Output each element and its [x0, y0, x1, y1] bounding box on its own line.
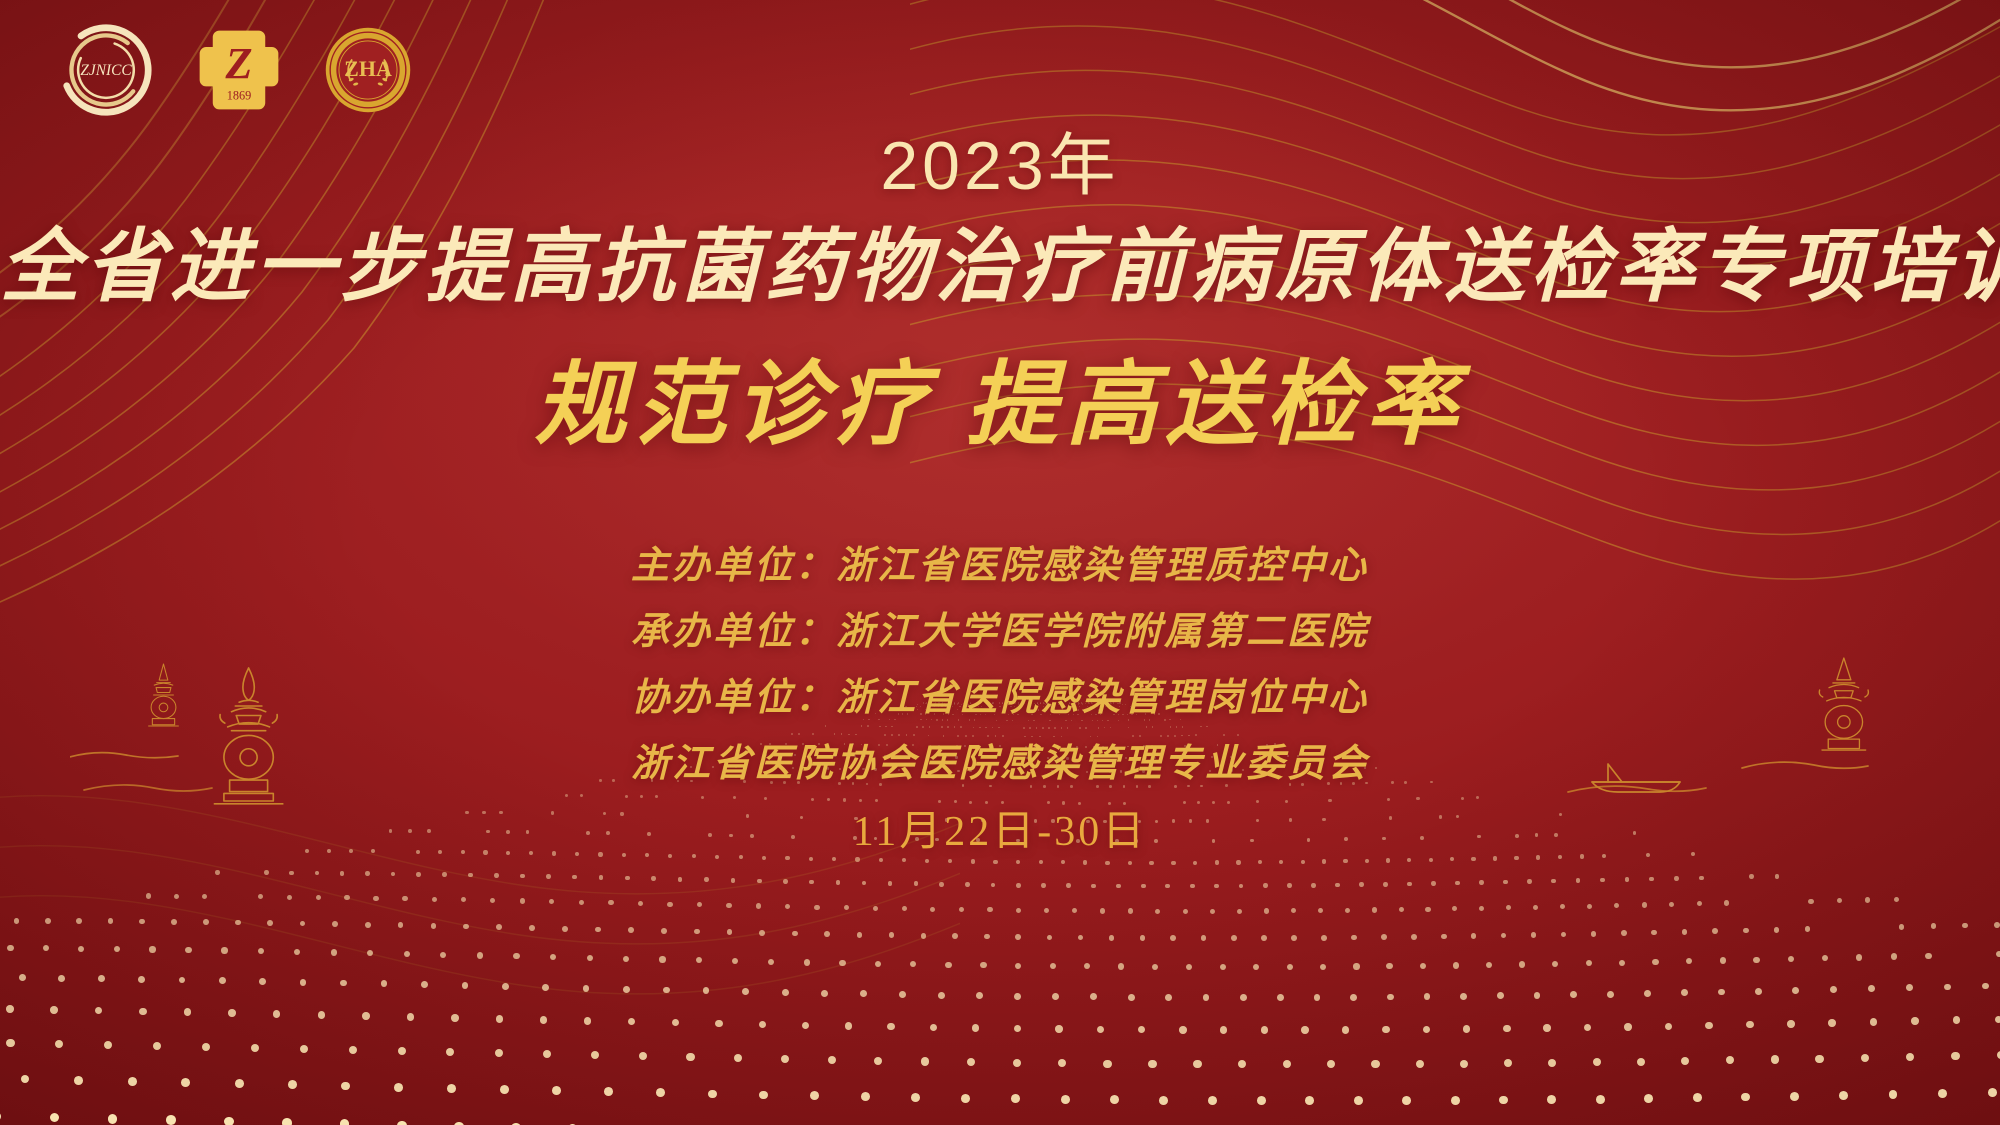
zju-1869-logo-icon: Z 1869 [198, 27, 280, 113]
page-title: 全省进一步提高抗菌药物治疗前病原体送检率专项培训 [0, 226, 2000, 311]
organizer-line: 协办单位：浙江省医院感染管理岗位中心 [0, 679, 2000, 717]
zju-logo-letter: Z [224, 39, 252, 88]
poster-content: 2023年 全省进一步提高抗菌药物治疗前病原体送检率专项培训 规范诊疗 提高送检… [0, 0, 2000, 853]
event-date: 11月22日-30日 [0, 811, 2000, 853]
zjnicc-logo: ZJNICC [58, 22, 154, 123]
organizer-line: 承办单位：浙江大学医学院附属第二医院 [0, 613, 2000, 651]
poster-canvas: ZJNICC Z 1869 [0, 0, 2000, 1125]
organizer-line: 浙江省医院协会医院感染管理专业委员会 [0, 745, 2000, 783]
organizer-list: 主办单位：浙江省医院感染管理质控中心 承办单位：浙江大学医学院附属第二医院 协办… [0, 547, 2000, 783]
slogan: 规范诊疗 提高送检率 [0, 359, 2000, 451]
organizer-line: 主办单位：浙江省医院感染管理质控中心 [0, 547, 2000, 585]
zha-logo: ZHA [324, 26, 412, 119]
zha-logo-icon: ZHA [324, 26, 412, 114]
zha-logo-monogram: ZHA [344, 56, 392, 81]
zjnicc-logo-icon: ZJNICC [58, 22, 154, 118]
zju-1869-logo: Z 1869 [198, 27, 280, 118]
zju-logo-year: 1869 [227, 89, 252, 103]
logo-row: ZJNICC Z 1869 [58, 22, 412, 123]
year-label: 2023年 [0, 132, 2000, 200]
zjnicc-logo-text: ZJNICC [80, 62, 132, 79]
